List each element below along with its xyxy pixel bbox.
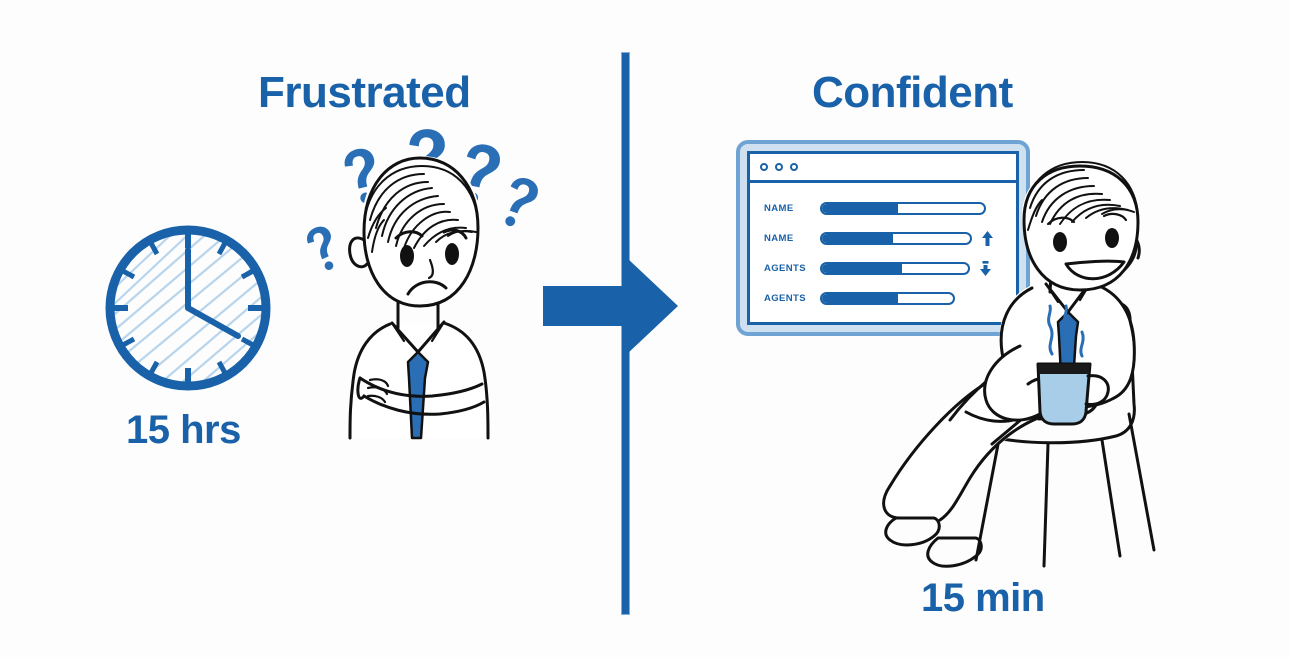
page-title-frustrated: Frustrated — [258, 68, 471, 118]
confident-head — [1022, 162, 1138, 290]
window-dot-minimize[interactable] — [775, 163, 783, 171]
frustrated-person — [292, 128, 562, 438]
metric-minutes: 15 min — [921, 576, 1045, 621]
metric-hours: 15 hrs — [126, 408, 241, 453]
confident-person — [880, 168, 1190, 578]
window-dot-close[interactable] — [760, 163, 768, 171]
page-title-confident: Confident — [812, 68, 1013, 118]
row-label: AGENTS — [764, 263, 812, 274]
illustration-canvas: Frustrated Confident — [0, 0, 1290, 657]
row-label: NAME — [764, 203, 812, 214]
row-label: NAME — [764, 233, 812, 244]
frustrated-head — [350, 156, 480, 306]
row-label: AGENTS — [764, 293, 812, 304]
frustrated-body — [350, 322, 488, 438]
window-dot-maximize[interactable] — [790, 163, 798, 171]
clock-icon — [98, 218, 278, 398]
shoes — [886, 518, 982, 566]
right-arrow-icon — [543, 256, 678, 356]
